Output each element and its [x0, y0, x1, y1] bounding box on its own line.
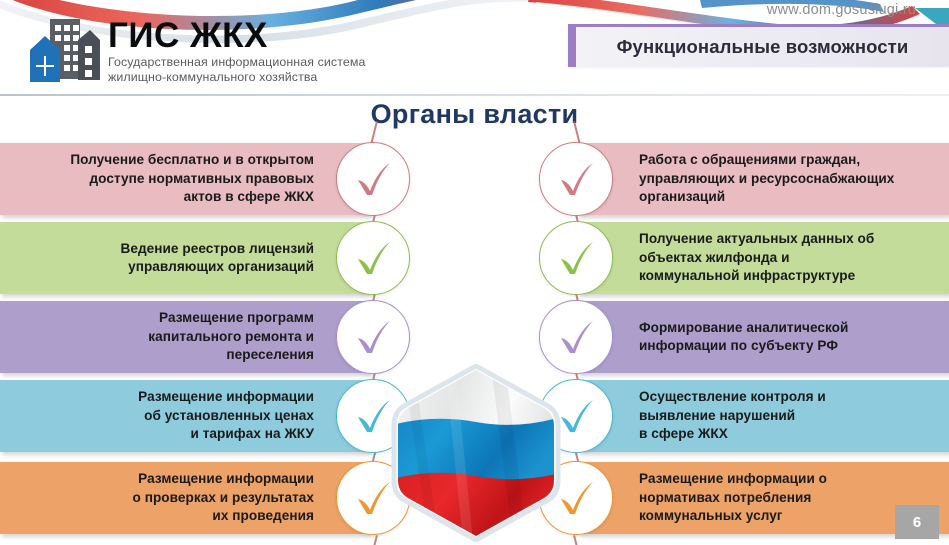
banner-label: Функциональные возможности [617, 36, 909, 58]
check-circle-left-2 [336, 221, 410, 295]
capability-text: Размещение информации об установленных ц… [138, 388, 314, 444]
gis-zhkh-logo: ГИС ЖКХ Государственная информационная с… [28, 16, 365, 84]
capability-band-right-1: Работа с обращениями граждан, управляющи… [579, 143, 949, 215]
capability-band-right-2: Получение актуальных данных об объектах … [579, 222, 949, 294]
slide-root: ГИС ЖКХ Государственная информационная с… [0, 0, 949, 545]
capability-band-left-1: Получение бесплатно и в открытом доступе… [0, 143, 370, 215]
capability-text: Получение бесплатно и в открытом доступе… [70, 151, 314, 207]
site-url: www.dom.gosuslugi.ru [767, 2, 916, 18]
capability-band-left-5: Размещение информации о проверках и резу… [0, 462, 370, 534]
capabilities-diagram: Получение бесплатно и в открытом доступе… [0, 136, 949, 545]
page-number-badge: 6 [895, 505, 939, 539]
capability-text: Размещение программ капитального ремонта… [148, 309, 314, 365]
check-circle-right-1 [539, 142, 613, 216]
check-icon [554, 315, 598, 359]
capability-text: Ведение реестров лицензий управляющих ор… [120, 240, 314, 277]
capability-text: Размещение информации о нормативах потре… [639, 470, 827, 526]
capability-text: Получение актуальных данных об объектах … [639, 230, 874, 286]
capability-text: Осуществление контроля и выявление наруш… [639, 388, 826, 444]
logo-title: ГИС ЖКХ [108, 18, 365, 54]
slide-header: ГИС ЖКХ Государственная информационная с… [0, 0, 949, 95]
capability-band-right-3: Формирование аналитической информации по… [579, 301, 949, 373]
check-circle-right-3 [539, 300, 613, 374]
check-icon [554, 157, 598, 201]
logo-subtitle: Государственная информационная система ж… [108, 55, 365, 84]
check-icon [351, 315, 395, 359]
capability-band-left-3: Размещение программ капитального ремонта… [0, 301, 370, 373]
check-circle-left-1 [336, 142, 410, 216]
header-divider [0, 94, 949, 96]
capability-band-left-4: Размещение информации об установленных ц… [0, 380, 370, 452]
check-circle-right-2 [539, 221, 613, 295]
capability-text: Размещение информации о проверках и резу… [133, 470, 314, 526]
buildings-icon [28, 16, 100, 84]
check-icon [351, 236, 395, 280]
connector-line [573, 535, 581, 545]
functional-capabilities-banner: Функциональные возможности [568, 24, 949, 67]
russian-flag-hexagon [388, 364, 564, 542]
capability-band-right-4: Осуществление контроля и выявление наруш… [579, 380, 949, 452]
connector-line [370, 535, 378, 545]
capability-text: Формирование аналитической информации по… [639, 319, 848, 356]
check-icon [554, 236, 598, 280]
check-circle-left-3 [336, 300, 410, 374]
check-icon [351, 157, 395, 201]
capability-band-right-5: Размещение информации о нормативах потре… [579, 462, 949, 534]
capability-text: Работа с обращениями граждан, управляющи… [639, 151, 894, 207]
capability-band-left-2: Ведение реестров лицензий управляющих ор… [0, 222, 370, 294]
page-title: Органы власти [0, 99, 949, 130]
